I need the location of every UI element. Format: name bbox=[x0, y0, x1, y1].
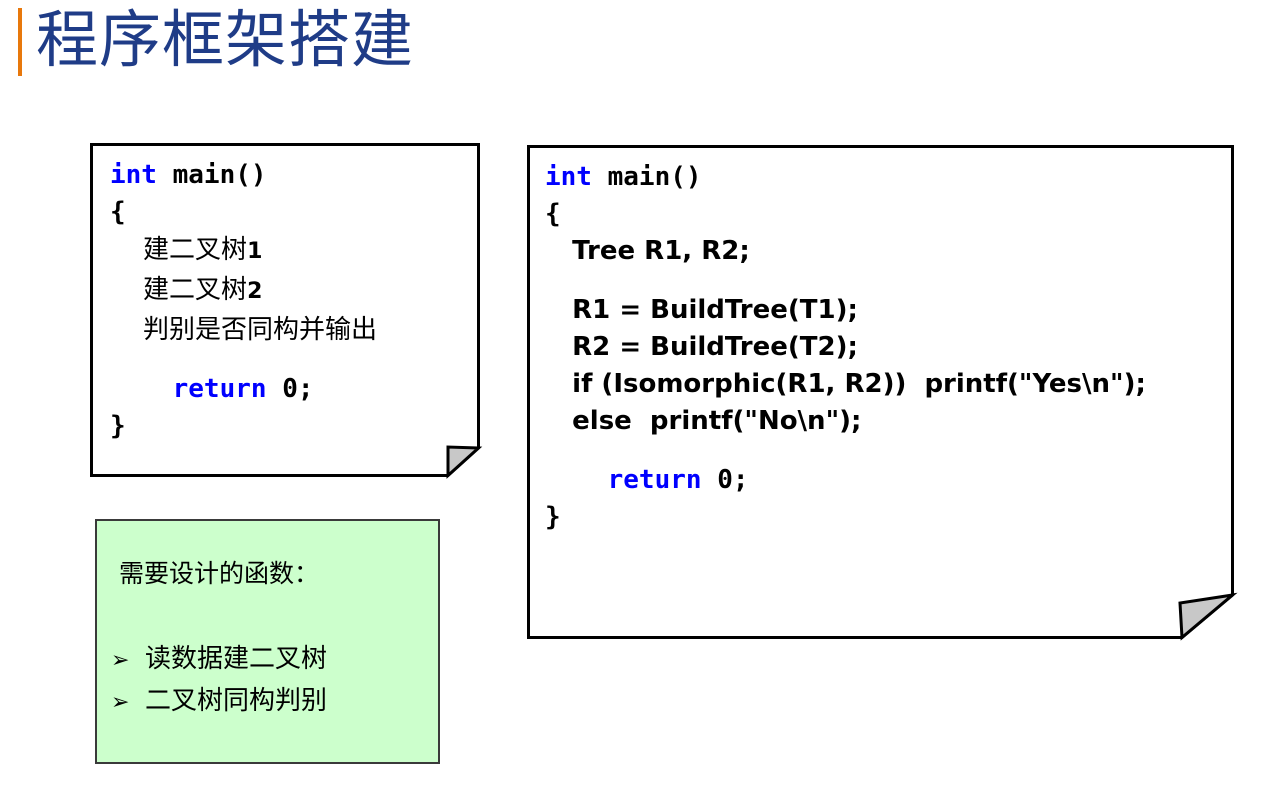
functions-box-header: 需要设计的函数： bbox=[119, 554, 319, 590]
arrow-bullet-icon: ➢ bbox=[111, 641, 145, 681]
functions-list: ➢ 读数据建二叉树 ➢ 二叉树同构判别 bbox=[111, 639, 432, 723]
code-line: 建二叉树2 bbox=[110, 271, 472, 311]
main-implementation-box: int main(){ Tree R1, R2; R1 = BuildTree(… bbox=[527, 145, 1234, 639]
arrow-bullet-icon: ➢ bbox=[111, 683, 145, 723]
functions-to-design-box: 需要设计的函数： ➢ 读数据建二叉树 ➢ 二叉树同构判别 bbox=[95, 519, 440, 764]
code-line: } bbox=[110, 408, 472, 445]
code-line: else printf("No\n"); bbox=[545, 403, 1226, 440]
title-accent-bar bbox=[18, 8, 22, 76]
code-blank-line bbox=[545, 440, 1226, 462]
left-code-lines: int main(){ 建二叉树1 建二叉树2 判别是否同构并输出 return… bbox=[110, 157, 472, 445]
code-line: 判别是否同构并输出 bbox=[110, 311, 472, 349]
code-line: return 0; bbox=[545, 462, 1226, 499]
code-line: { bbox=[110, 194, 472, 231]
code-line: return 0; bbox=[110, 371, 472, 408]
code-blank-line bbox=[110, 349, 472, 371]
code-line: Tree R1, R2; bbox=[545, 233, 1226, 270]
code-line: { bbox=[545, 196, 1226, 233]
code-line: int main() bbox=[110, 157, 472, 194]
code-line: } bbox=[545, 499, 1226, 536]
code-line: R2 = BuildTree(T2); bbox=[545, 329, 1226, 366]
code-line: if (Isomorphic(R1, R2)) printf("Yes\n"); bbox=[545, 366, 1226, 403]
list-item-label: 二叉树同构判别 bbox=[145, 681, 327, 721]
code-line: R1 = BuildTree(T1); bbox=[545, 292, 1226, 329]
page-title: 程序框架搭建 bbox=[36, 0, 414, 82]
list-item: ➢ 读数据建二叉树 bbox=[111, 639, 432, 681]
code-line: 建二叉树1 bbox=[110, 231, 472, 271]
main-pseudocode-box: int main(){ 建二叉树1 建二叉树2 判别是否同构并输出 return… bbox=[90, 143, 480, 477]
list-item-label: 读数据建二叉树 bbox=[145, 639, 327, 679]
list-item: ➢ 二叉树同构判别 bbox=[111, 681, 432, 723]
code-line: int main() bbox=[545, 159, 1226, 196]
code-blank-line bbox=[545, 270, 1226, 292]
right-code-lines: int main(){ Tree R1, R2; R1 = BuildTree(… bbox=[545, 159, 1226, 536]
